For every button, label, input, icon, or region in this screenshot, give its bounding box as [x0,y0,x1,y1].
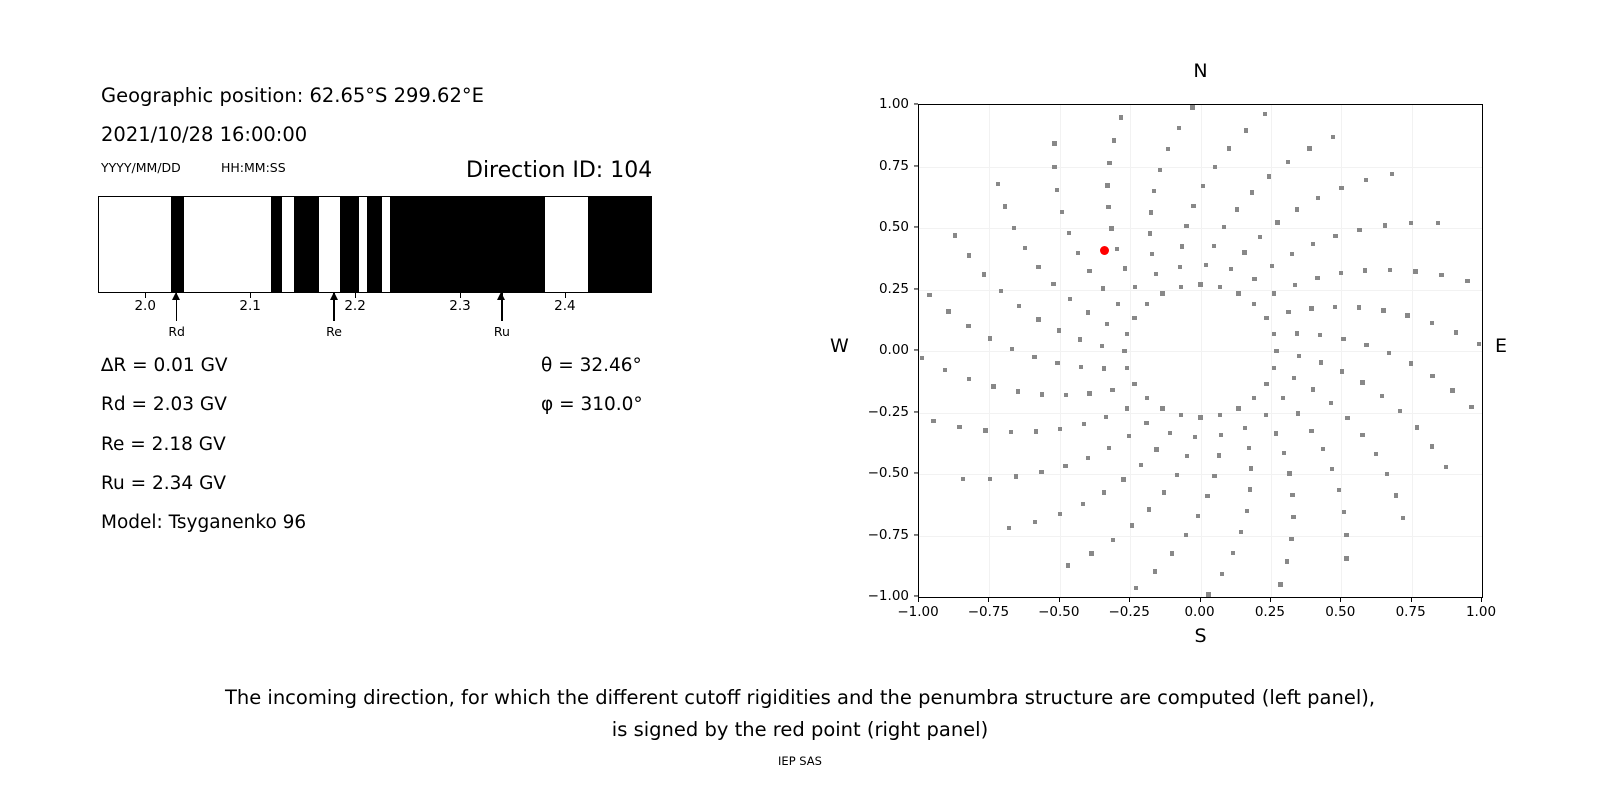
direction-point [1274,431,1278,435]
direction-point [1330,467,1334,471]
forbidden-band [171,197,184,292]
direction-point [1063,464,1067,468]
direction-point [1297,354,1301,358]
direction-point [1040,392,1044,396]
direction-point [1309,306,1313,310]
direction-point [1060,210,1064,214]
direction-point [1193,435,1197,439]
time-format-hint: HH:MM:SS [221,160,286,175]
y-axis-tick [914,349,919,350]
direction-point [920,356,924,360]
direction-point [1212,244,1216,248]
direction-point [1286,160,1290,164]
direction-point [1014,474,1018,478]
x-axis-tick-label: −0.50 [1038,604,1079,620]
axis-tick [250,293,251,298]
direction-point [1149,210,1153,214]
direction-point [1381,308,1385,312]
direction-point [1102,366,1106,370]
direction-point [1125,406,1129,410]
direction-point [1454,330,1458,334]
direction-point [1341,337,1345,341]
y-axis-tick-label: 0.50 [840,219,909,235]
x-axis-tick [1129,597,1130,602]
direction-point [946,309,950,313]
direction-point [1179,285,1183,289]
x-axis-tick-label: −1.00 [897,604,938,620]
direction-point [1130,523,1134,527]
direction-point [1374,452,1378,456]
direction-point [1249,466,1253,470]
axis-tick-label: 2.2 [344,298,365,314]
direction-map-panel: N S W E −1.00−0.75−0.50−0.250.000.250.50… [840,40,1540,660]
penumbra-panel: Geographic position: 62.65°S 299.62°E 20… [0,0,760,660]
direction-point [1145,302,1149,306]
direction-point [1058,512,1062,516]
direction-point [1383,223,1387,227]
direction-point [1110,388,1114,392]
direction-point [1218,285,1222,289]
direction-point [1219,433,1223,437]
direction-point [1007,526,1011,530]
direction-point [967,377,971,381]
direction-point [1100,344,1104,348]
direction-point [1465,279,1469,283]
direction-point [927,293,931,297]
direction-point [1122,349,1126,353]
direction-point [1081,502,1085,506]
direction-point [1064,393,1068,397]
theta-value: θ = 32.46° [541,355,642,376]
direction-scatter-plot [918,104,1483,598]
y-axis-tick-label: 1.00 [840,96,909,112]
direction-point [983,428,987,432]
x-axis-tick [1481,597,1482,602]
y-axis-tick [914,226,919,227]
x-axis-tick-label: 0.00 [1184,604,1214,620]
forbidden-band [390,197,545,292]
x-axis-tick [1270,597,1271,602]
direction-point [1213,165,1217,169]
direction-point [1217,453,1221,457]
direction-point [988,336,992,340]
gridline-horizontal [919,474,1482,475]
direction-point [1179,413,1183,417]
re-value: Re = 2.18 GV [101,434,226,455]
direction-point [1079,365,1083,369]
direction-point [1390,172,1394,176]
x-axis-tick [1200,597,1201,602]
direction-point [1102,490,1106,494]
direction-point [1318,333,1322,337]
x-axis-tick-label: 0.50 [1325,604,1355,620]
direction-point [967,253,971,257]
direction-point [1178,265,1182,269]
axis-tick-label: 2.4 [554,298,575,314]
forbidden-band [588,197,652,292]
direction-point [1082,422,1086,426]
direction-point [1089,551,1093,555]
direction-point [1127,434,1131,438]
direction-point [1076,251,1080,255]
x-axis-tick [1340,597,1341,602]
direction-point [1235,207,1239,211]
direction-point [1153,569,1157,573]
x-axis-tick-label: 0.75 [1396,604,1426,620]
direction-point [1405,313,1409,317]
direction-point [1264,316,1268,320]
direction-point [1055,188,1059,192]
direction-point [1119,115,1123,119]
direction-point [1272,291,1276,295]
direction-point [1115,247,1119,251]
direction-point [1185,454,1189,458]
gridline-horizontal [919,536,1482,537]
cutoff-marker-label: Re [326,324,342,339]
delta-r-value: ∆R = 0.01 GV [101,355,228,376]
direction-point [1107,446,1111,450]
direction-point [1243,426,1247,430]
direction-point [1401,516,1405,520]
direction-point [953,233,957,237]
direction-point [1036,265,1040,269]
direction-point [1231,551,1235,555]
direction-point [1154,272,1158,276]
geographic-position-label: Geographic position: 62.65°S 299.62°E [101,84,484,107]
direction-point [1274,349,1278,353]
direction-point [966,324,970,328]
direction-point [1264,382,1268,386]
direction-point [1204,263,1208,267]
y-axis-tick-label: 0.75 [840,158,909,174]
direction-point [1220,572,1224,576]
penumbra-band-chart [98,196,652,293]
direction-point [1311,387,1315,391]
direction-point [1282,451,1286,455]
direction-point [1333,234,1337,238]
caption-line-2: is signed by the red point (right panel) [0,714,1600,746]
x-axis-tick [1059,597,1060,602]
direction-point [1287,471,1291,475]
direction-point [1436,221,1440,225]
y-axis-tick-label: −0.75 [840,527,909,543]
direction-point [957,425,961,429]
compass-south-label: S [918,625,1483,647]
direction-point [1236,291,1240,295]
datetime-label: 2021/10/28 16:00:00 [101,123,307,146]
direction-point [1180,244,1184,248]
direction-point [1364,343,1368,347]
direction-point [1290,252,1294,256]
direction-point [1430,444,1434,448]
direction-point [1112,138,1116,142]
direction-point [1272,366,1276,370]
direction-point [1242,250,1246,254]
axis-tick-label: 2.1 [239,298,260,314]
direction-point [1010,347,1014,351]
direction-point [1340,369,1344,373]
direction-point [1247,446,1251,450]
direction-point [1387,351,1391,355]
y-axis-tick-label: −1.00 [840,588,909,604]
direction-point [1295,331,1299,335]
cutoff-marker-label: Ru [494,324,510,339]
direction-point [1309,429,1313,433]
direction-point [1198,282,1202,286]
direction-id-label: Direction ID: 104 [466,158,652,183]
axis-tick-label: 2.0 [134,298,155,314]
direction-point [996,182,1000,186]
direction-point [931,419,935,423]
direction-point [1033,520,1037,524]
direction-point [1295,207,1299,211]
y-axis-tick [914,472,919,473]
direction-point [1175,473,1179,477]
direction-point [1154,447,1158,451]
rd-value: Rd = 2.03 GV [101,394,227,415]
direction-point [1086,456,1090,460]
ru-value: Ru = 2.34 GV [101,473,226,494]
direction-point [1012,226,1016,230]
direction-point [1339,271,1343,275]
direction-point [1057,328,1061,332]
direction-point [1331,135,1335,139]
direction-point [1051,282,1055,286]
y-axis-tick-label: 0.25 [840,281,909,297]
direction-point [1316,196,1320,200]
direction-point [1337,488,1341,492]
direction-point [1275,220,1279,224]
direction-point [1003,204,1007,208]
axis-tick [565,293,566,298]
direction-point [1342,510,1346,514]
direction-point [1222,225,1226,229]
direction-point [1023,246,1027,250]
direction-point [1147,507,1151,511]
direction-point [1034,429,1038,433]
direction-point [1267,174,1271,178]
direction-point [1201,184,1205,188]
direction-point [1105,183,1109,187]
direction-point [1106,205,1110,209]
direction-point [1248,487,1252,491]
direction-point [1017,304,1021,308]
direction-point [1291,515,1295,519]
direction-point [1360,380,1364,384]
direction-point [1198,415,1202,419]
direction-point [1388,268,1392,272]
direction-point [1039,470,1043,474]
direction-point [1184,224,1188,228]
direction-point [1125,366,1129,370]
y-axis-tick [914,288,919,289]
direction-point [1252,302,1256,306]
direction-point [1311,242,1315,246]
direction-point [1319,360,1323,364]
direction-point [1281,396,1285,400]
direction-point [1067,231,1071,235]
direction-point [1111,538,1115,542]
direction-point [1344,533,1348,537]
forbidden-band [367,197,382,292]
direction-point [1107,161,1111,165]
direction-point [1229,267,1233,271]
selected-direction-marker[interactable] [1100,246,1109,255]
direction-point [1132,382,1136,386]
caption-line-1: The incoming direction, for which the di… [0,682,1600,714]
direction-point [1258,235,1262,239]
direction-point [1252,396,1256,400]
direction-point [1196,514,1200,518]
y-axis-tick-label: −0.50 [840,465,909,481]
direction-point [1333,305,1337,309]
direction-point [1293,283,1297,287]
direction-point [1104,415,1108,419]
direction-point [1227,146,1231,150]
direction-point [1252,277,1256,281]
direction-point [1058,427,1062,431]
direction-point [1191,204,1195,208]
direction-point [1133,285,1137,289]
direction-point [1145,396,1149,400]
forbidden-band [271,197,282,292]
direction-point [1139,463,1143,467]
direction-point [1170,551,1174,555]
x-axis-tick [1411,597,1412,602]
direction-point [1477,342,1481,346]
direction-point [1068,297,1072,301]
direction-point [1032,355,1036,359]
direction-point [1430,321,1434,325]
direction-point [1166,147,1170,151]
direction-point [1357,228,1361,232]
axis-tick [355,293,356,298]
direction-point [1264,413,1268,417]
compass-east-label: E [1495,335,1507,357]
direction-point [1398,409,1402,413]
direction-point [1055,361,1059,365]
direction-point [1148,231,1152,235]
direction-point [1263,112,1267,116]
direction-point [1152,189,1156,193]
cutoff-marker-label: Rd [168,324,185,339]
direction-point [1177,126,1181,130]
axis-tick [460,293,461,298]
arrow-up-icon [497,292,505,300]
direction-point [1009,430,1013,434]
direction-point [1385,472,1389,476]
forbidden-band [294,197,319,292]
gridline-horizontal [919,290,1482,291]
gridline-horizontal [919,228,1482,229]
direction-point [1285,559,1289,563]
direction-point [1250,190,1254,194]
direction-point [1270,264,1274,268]
direction-point [1307,146,1311,150]
direction-point [991,384,995,388]
direction-point [1125,332,1129,336]
forbidden-band [340,197,359,292]
direction-point [1052,141,1056,145]
direction-point [1339,186,1343,190]
direction-point [1296,411,1300,415]
gridline-horizontal [919,167,1482,168]
direction-point [1290,493,1294,497]
x-axis-tick-label: 1.00 [1466,604,1496,620]
direction-point [1344,556,1348,560]
direction-point [1321,447,1325,451]
direction-point [1132,316,1136,320]
gridline-horizontal [919,351,1482,352]
direction-point [1363,268,1367,272]
direction-point [1150,252,1154,256]
direction-point [1315,276,1319,280]
date-format-hint: YYYY/MM/DD [101,160,181,175]
direction-point [1101,286,1105,290]
x-axis-tick-label: −0.75 [968,604,1009,620]
direction-point [1380,394,1384,398]
direction-point [1239,530,1243,534]
direction-point [1184,533,1188,537]
direction-point [1244,128,1248,132]
direction-point [1205,494,1209,498]
direction-point [1409,361,1413,365]
direction-point [1450,388,1454,392]
x-axis-tick [988,597,989,602]
direction-point [1245,509,1249,513]
direction-point [1469,405,1473,409]
arrow-up-icon [172,292,180,300]
direction-point [1430,374,1434,378]
direction-point [1160,406,1164,410]
direction-point [982,272,986,276]
y-axis-tick [914,411,919,412]
direction-point [1123,266,1127,270]
direction-point [1236,406,1240,410]
direction-point [1105,322,1109,326]
direction-point [1144,421,1148,425]
y-axis-tick [914,165,919,166]
direction-point [1329,401,1333,405]
penumbra-rigidity-axis: 2.02.12.22.32.4 [98,293,652,353]
direction-point [1036,317,1040,321]
direction-point [1394,493,1398,497]
direction-point [1066,563,1070,567]
direction-point [1292,376,1296,380]
y-axis-tick [914,534,919,535]
direction-point [1345,416,1349,420]
direction-point [1190,105,1194,109]
direction-point [1116,302,1120,306]
direction-point [1158,168,1162,172]
compass-north-label: N [918,60,1483,82]
direction-point [943,368,947,372]
direction-point [1218,413,1222,417]
direction-point [1444,465,1448,469]
direction-point [1109,226,1113,230]
direction-point [999,289,1003,293]
direction-point [1052,165,1056,169]
x-axis-tick-label: 0.25 [1255,604,1285,620]
direction-point [1134,586,1138,590]
direction-point [961,477,965,481]
x-axis-tick-label: −0.25 [1108,604,1149,620]
y-axis-tick-label: 0.00 [840,342,909,358]
direction-point [1364,178,1368,182]
axis-tick-label: 2.3 [449,298,470,314]
axis-tick [145,293,146,298]
direction-point [1160,291,1164,295]
